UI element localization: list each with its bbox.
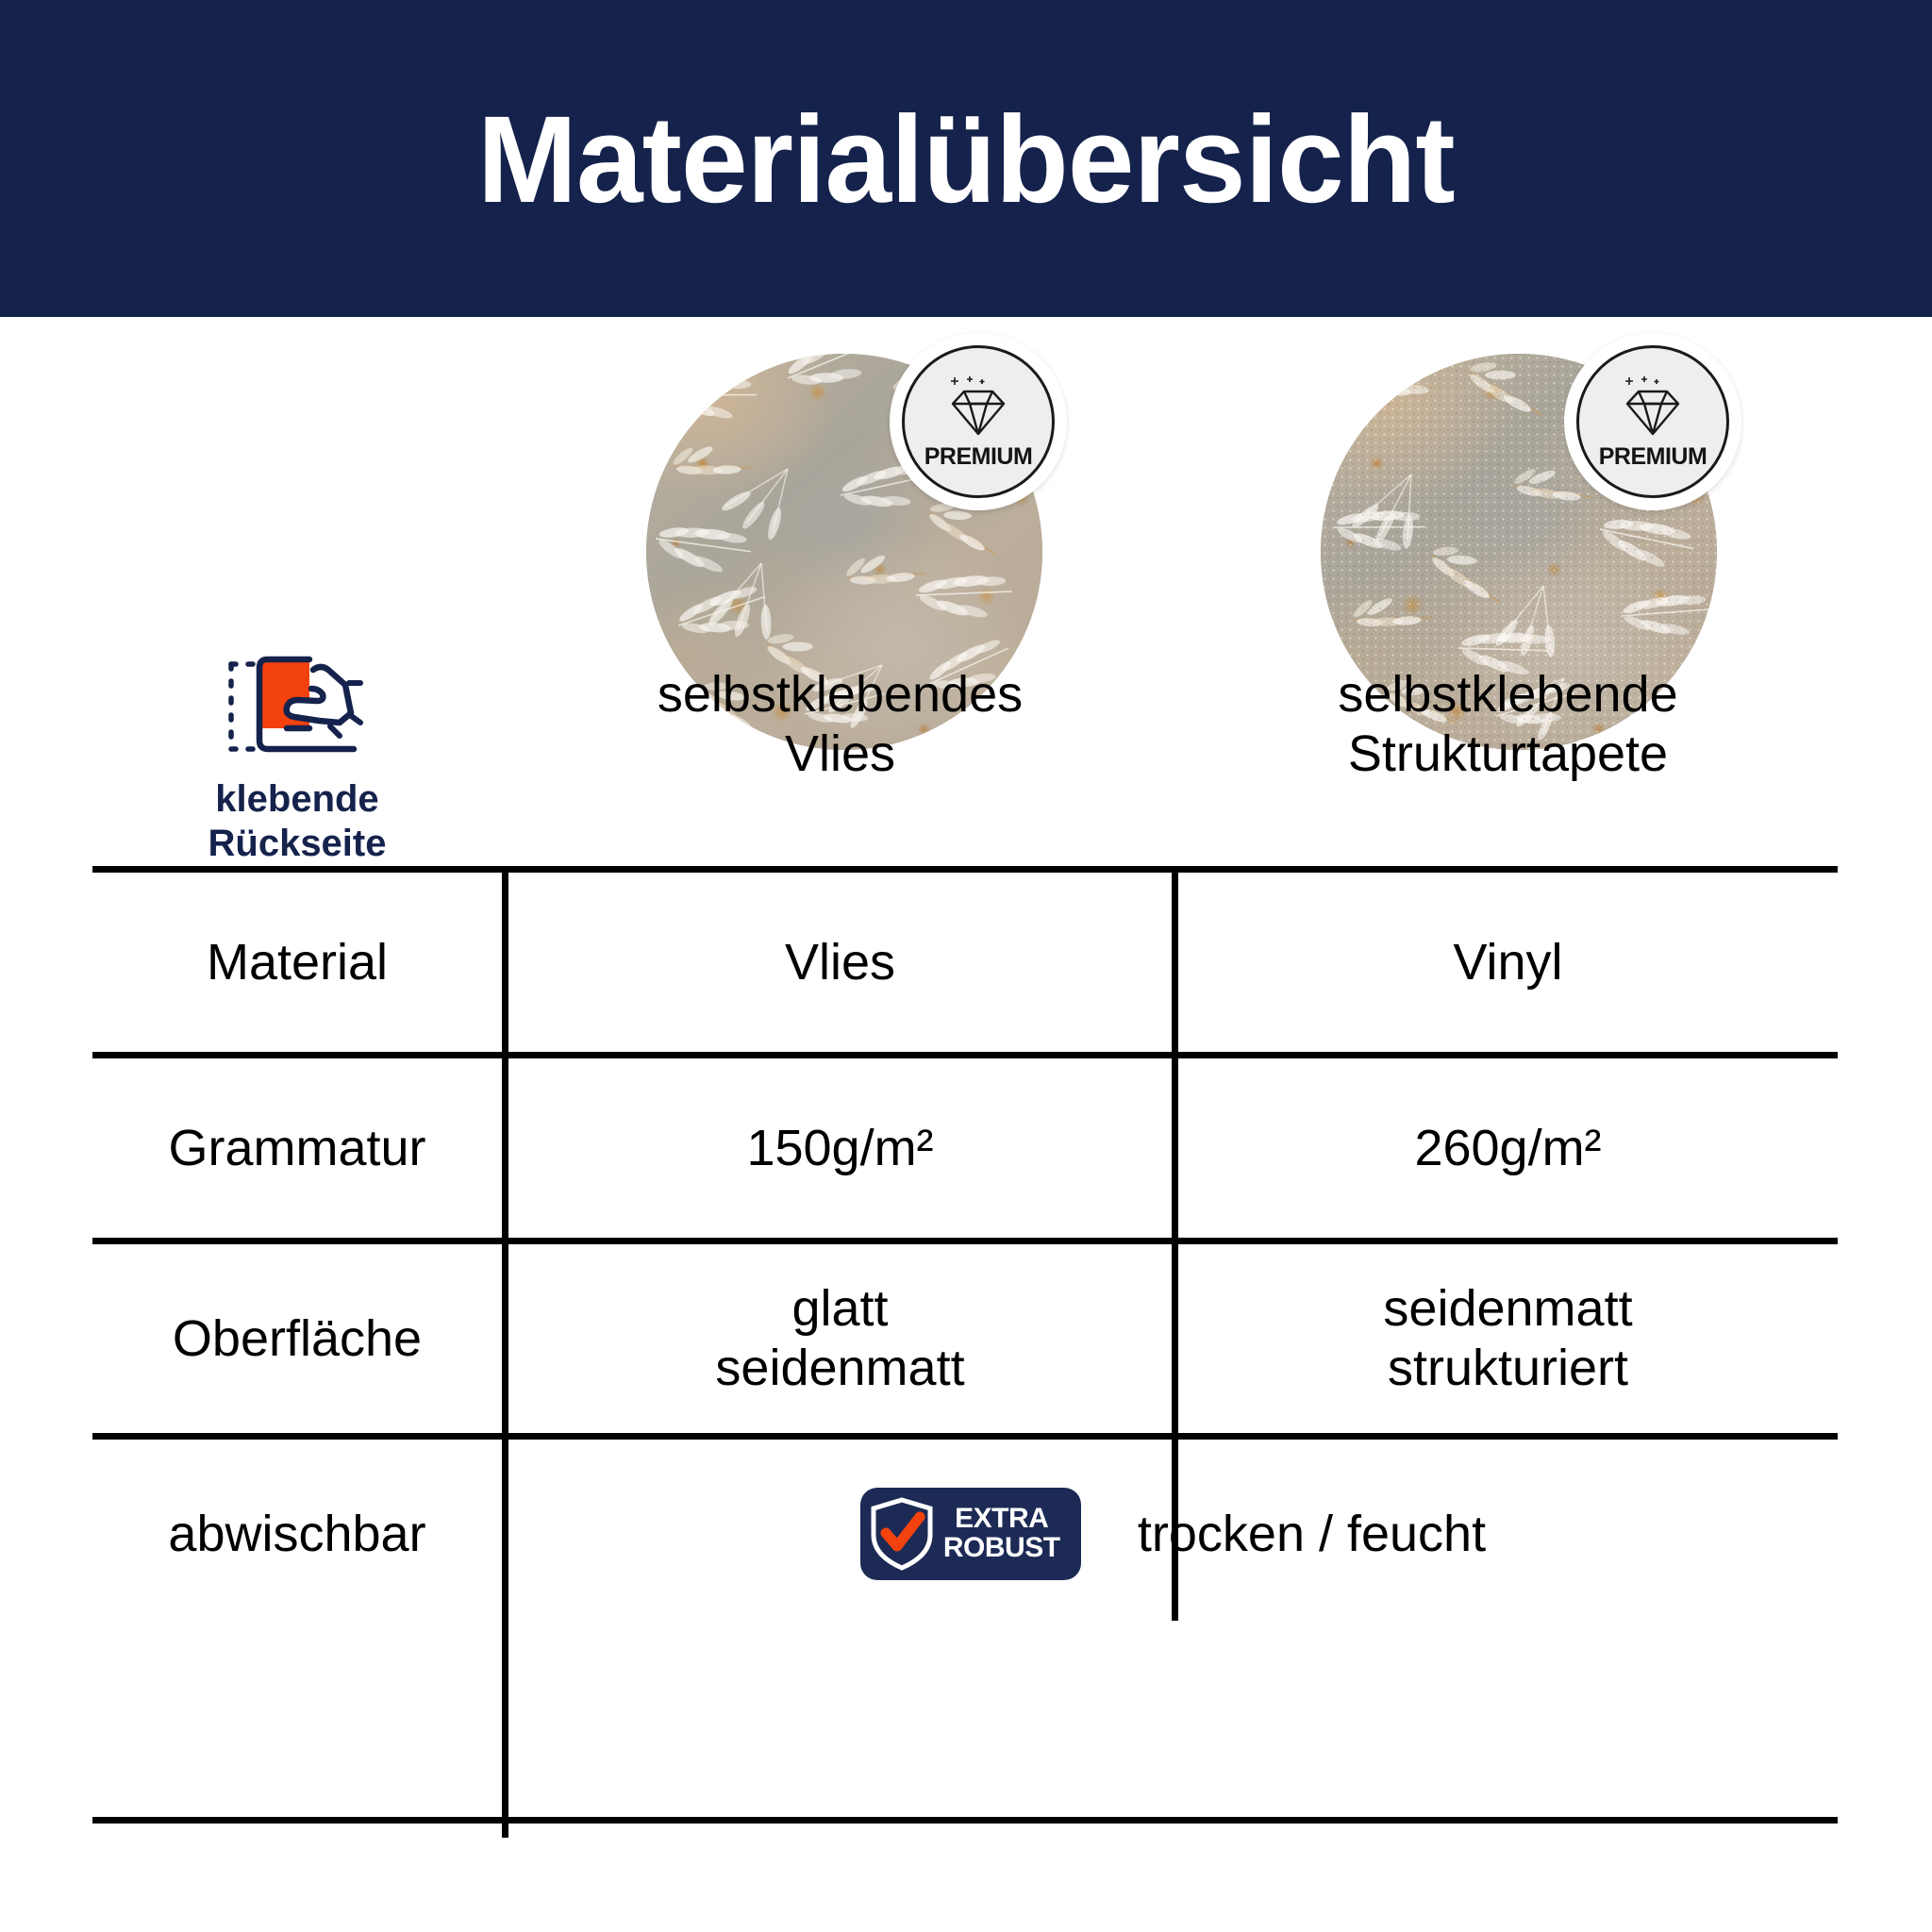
row-value-oberflaeche-vlies: glatt seidenmatt (508, 1244, 1172, 1433)
row-divider-3 (92, 1238, 1838, 1244)
page-title: Materialübersicht (477, 97, 1455, 221)
premium-badge: PREMIUM (890, 333, 1067, 510)
row-label-material: Material (92, 873, 502, 1052)
premium-label: PREMIUM (924, 445, 1033, 469)
row-value-abwischbar: EXTRA ROBUST trocken / feucht (508, 1440, 1838, 1628)
row-value-grammatur-vlies: 150g/m² (508, 1058, 1172, 1238)
extra-robust-line1: EXTRA (943, 1505, 1060, 1534)
adhesive-backing-cell: klebende Rückseite (92, 583, 502, 866)
row-label-abwischbar: abwischbar (92, 1440, 502, 1628)
row-divider-5 (92, 1817, 1838, 1824)
premium-label: PREMIUM (1599, 445, 1707, 469)
row-label-oberflaeche: Oberfläche (92, 1244, 502, 1433)
column-divider-1 (502, 866, 508, 1838)
adhesive-backing-label: klebende Rückseite (208, 777, 387, 866)
peel-adhesive-backing-icon (208, 647, 387, 766)
column-header-vlies: selbstklebendes Vlies (508, 611, 1172, 838)
row-divider-1 (92, 866, 1838, 873)
abwischbar-value: trocken / feucht (1138, 1505, 1486, 1564)
row-value-oberflaeche-strukturtapete: seidenmatt strukturiert (1178, 1244, 1838, 1433)
extra-robust-badge: EXTRA ROBUST (860, 1488, 1081, 1580)
row-label-grammatur: Grammatur (92, 1058, 502, 1238)
column-header-strukturtapete: selbstklebende Strukturtapete (1178, 611, 1838, 838)
diamond-icon (1616, 375, 1690, 441)
diamond-icon (941, 375, 1015, 441)
header-bar: Materialübersicht (0, 0, 1932, 317)
shield-check-icon (868, 1495, 936, 1573)
row-divider-2 (92, 1052, 1838, 1058)
row-value-grammatur-strukturtapete: 260g/m² (1178, 1058, 1838, 1238)
row-divider-4 (92, 1433, 1838, 1440)
row-value-material-strukturtapete: Vinyl (1178, 873, 1838, 1052)
premium-badge: PREMIUM (1564, 333, 1741, 510)
extra-robust-line2: ROBUST (943, 1534, 1060, 1563)
row-value-material-vlies: Vlies (508, 873, 1172, 1052)
